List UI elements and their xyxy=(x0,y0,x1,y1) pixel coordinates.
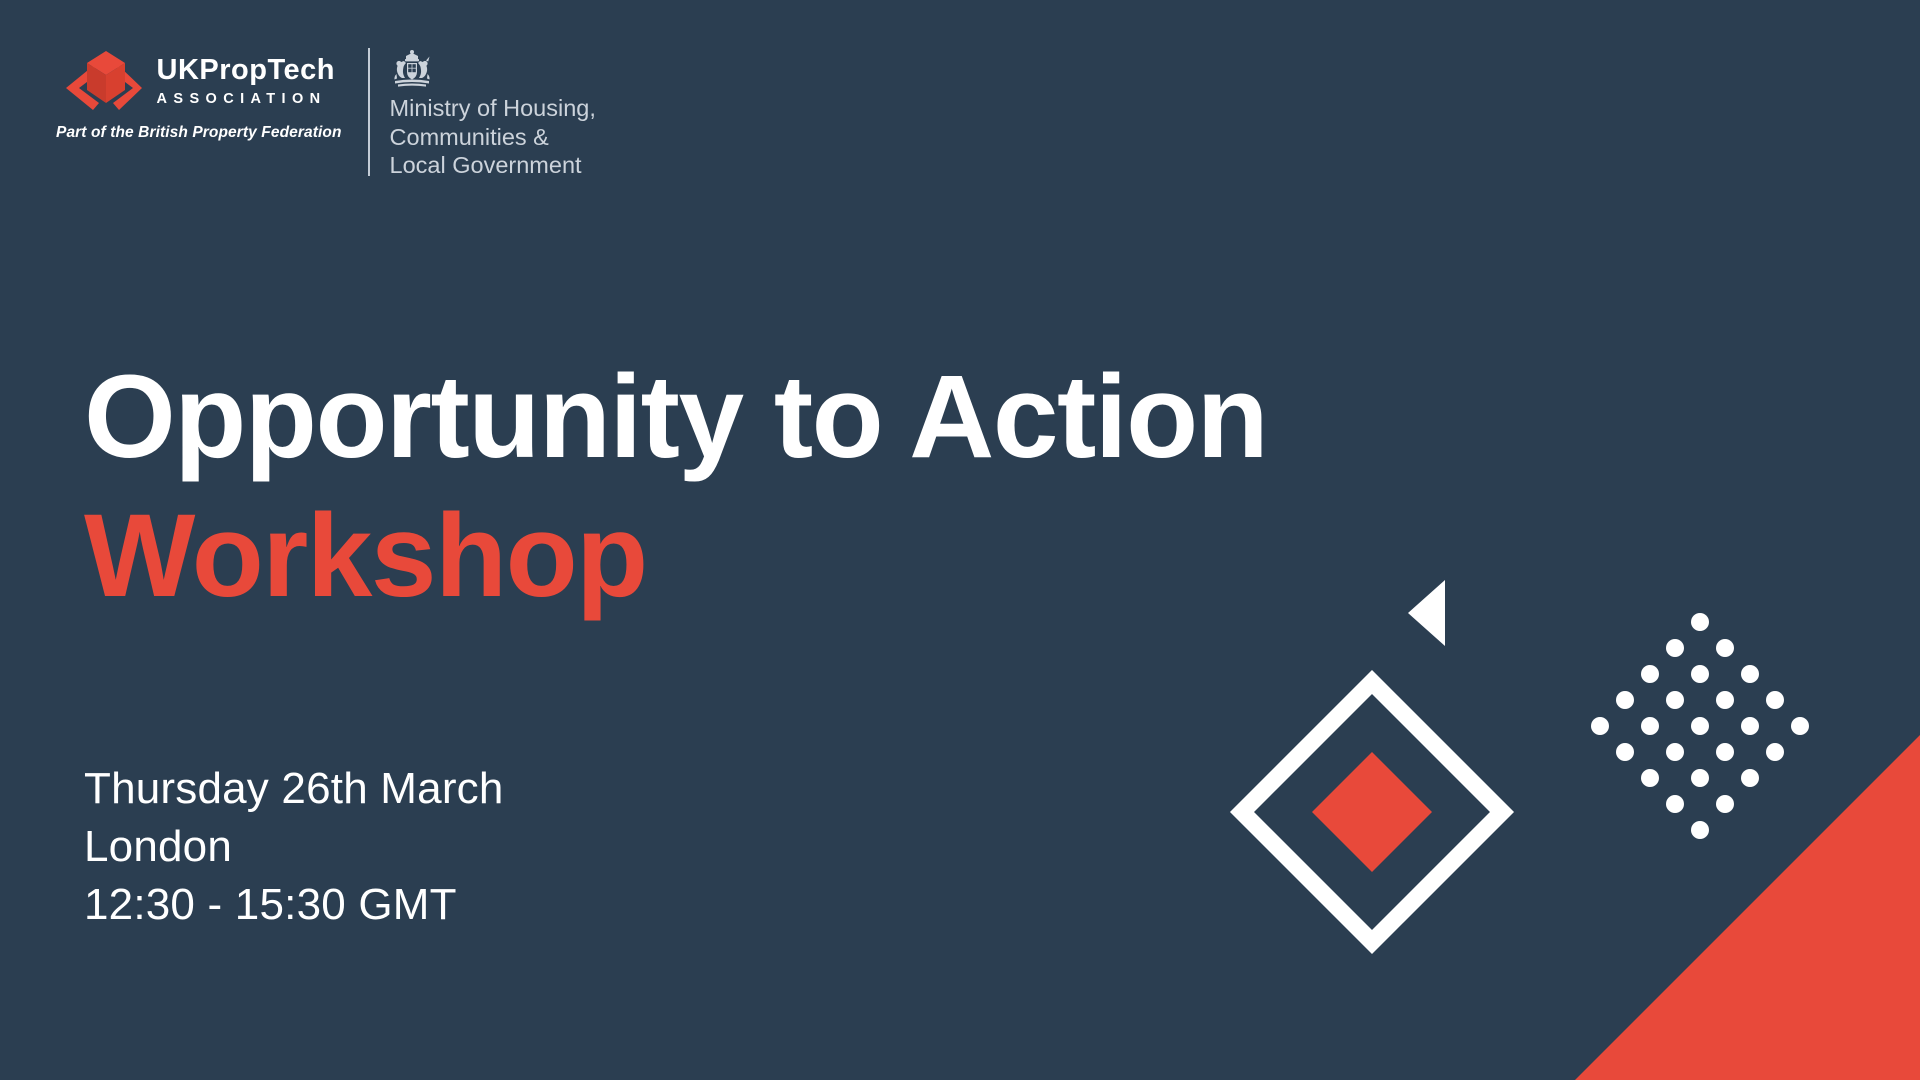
ministry-logo: Ministry of Housing, Communities & Local… xyxy=(370,48,596,180)
headline-line-2: Workshop xyxy=(84,487,1284,626)
event-time: 12:30 - 15:30 GMT xyxy=(84,876,504,934)
red-corner-wedge xyxy=(1575,735,1920,1080)
ukproptech-logo-row: UKPropTech ASSOCIATION xyxy=(63,48,335,114)
headline-block: Opportunity to Action Workshop xyxy=(84,348,1284,626)
event-location: London xyxy=(84,818,504,876)
diamond-filled-red xyxy=(1312,752,1432,872)
logo-lockup: UKPropTech ASSOCIATION Part of the Briti… xyxy=(56,48,596,178)
ukproptech-chevron-cube-mark xyxy=(63,48,145,114)
left-pointing-triangle xyxy=(1408,580,1445,646)
event-details-block: Thursday 26th March London 12:30 - 15:30… xyxy=(84,760,504,934)
decorative-artwork xyxy=(1220,560,1920,1080)
ukproptech-tagline: Part of the British Property Federation xyxy=(56,124,342,142)
slide-canvas: UKPropTech ASSOCIATION Part of the Briti… xyxy=(0,0,1920,1080)
ukproptech-subtitle: ASSOCIATION xyxy=(157,92,335,107)
ukproptech-name: UKPropTech xyxy=(157,56,335,85)
diamond-outline xyxy=(1242,682,1502,942)
ukproptech-logo: UKPropTech ASSOCIATION Part of the Briti… xyxy=(56,48,368,142)
ukproptech-wordmark: UKPropTech ASSOCIATION xyxy=(157,56,335,107)
headline-line-1: Opportunity to Action xyxy=(84,348,1284,487)
royal-coat-of-arms-crest xyxy=(390,48,434,88)
diamond-dot-grid xyxy=(1591,613,1809,839)
ministry-name: Ministry of Housing, Communities & Local… xyxy=(390,94,596,180)
event-date: Thursday 26th March xyxy=(84,760,504,818)
